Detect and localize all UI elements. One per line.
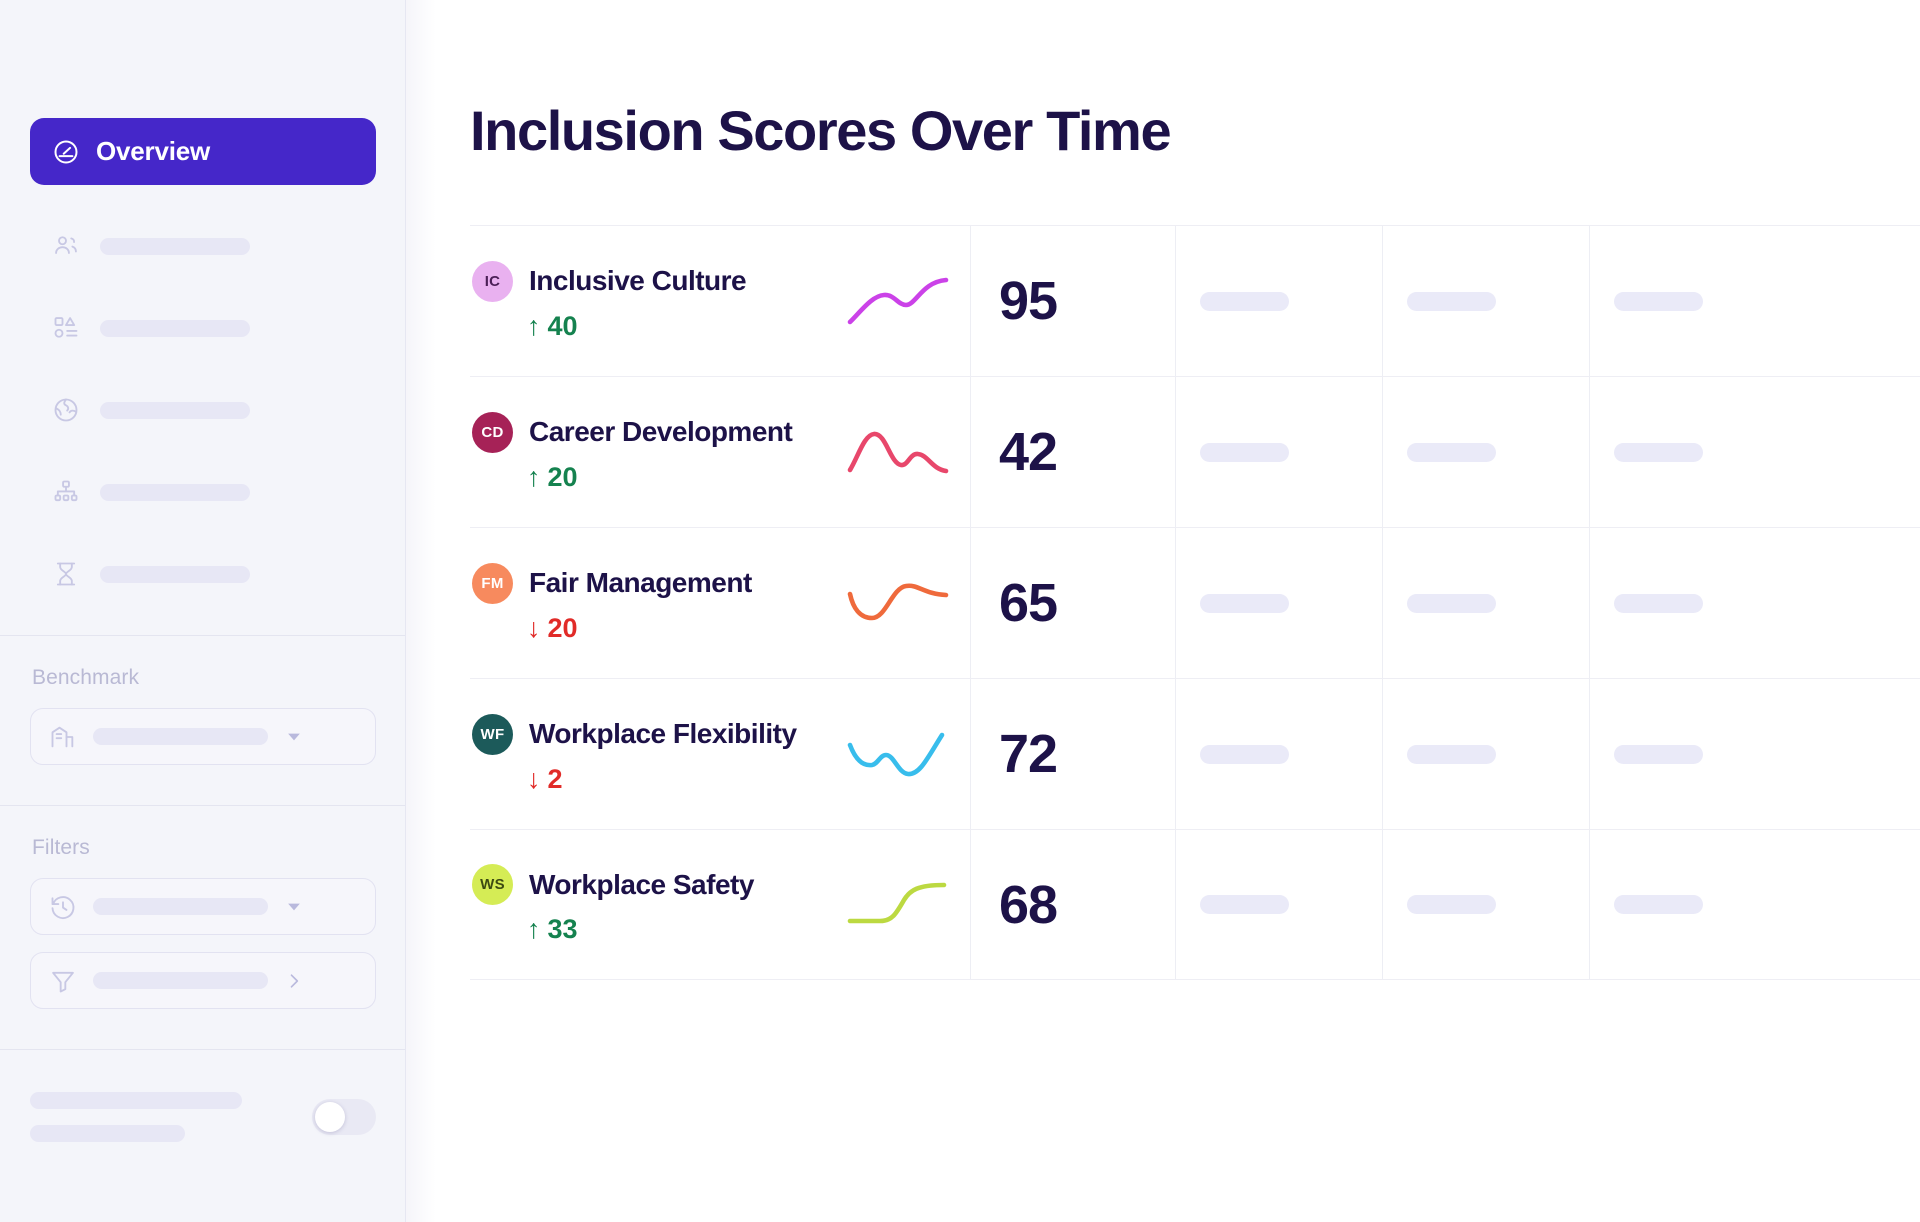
- score-cell: 95: [970, 226, 1175, 376]
- filters-section: Filters: [0, 806, 406, 1009]
- score-cell: 42: [970, 377, 1175, 527]
- filter-time-value: [93, 898, 268, 915]
- placeholder-cell: [1589, 528, 1920, 678]
- placeholder-bar: [1407, 594, 1496, 613]
- filter-funnel-select[interactable]: [30, 952, 376, 1009]
- placeholder-cell: [1589, 830, 1920, 979]
- avatar: WS: [472, 864, 513, 905]
- arrow-up-icon: ↑: [527, 464, 541, 491]
- sparkline-cell: [830, 528, 970, 678]
- placeholder-cell: [1589, 377, 1920, 527]
- placeholder-bar: [1407, 443, 1496, 462]
- metric-name-line: WS Workplace Safety: [472, 864, 830, 905]
- table-row[interactable]: FM Fair Management ↓ 20 65: [470, 527, 1920, 678]
- toggle-knob: [315, 1102, 345, 1132]
- delta-value: 40: [548, 311, 578, 342]
- table-row[interactable]: IC Inclusive Culture ↑ 40 95: [470, 225, 1920, 376]
- metric-name-cell: FM Fair Management ↓ 20: [470, 528, 830, 678]
- benchmark-title: Benchmark: [32, 666, 376, 690]
- sidebar: Overview: [0, 0, 406, 1222]
- avatar: CD: [472, 412, 513, 453]
- metric-label: Inclusive Culture: [529, 265, 746, 297]
- metric-name-cell: WF Workplace Flexibility ↓ 2: [470, 679, 830, 829]
- footer-line-2: [30, 1125, 185, 1142]
- hierarchy-icon: [52, 478, 80, 506]
- delta-indicator: ↑ 33: [527, 914, 830, 945]
- sidebar-item-label-overview: Overview: [96, 136, 210, 167]
- placeholder-cell: [1175, 830, 1382, 979]
- metric-label: Career Development: [529, 416, 792, 448]
- funnel-filter-icon: [49, 967, 77, 995]
- delta-indicator: ↑ 20: [527, 462, 830, 493]
- time-history-icon: [49, 893, 77, 921]
- sparkline-chart: [848, 572, 948, 634]
- sidebar-item-people[interactable]: [30, 225, 376, 267]
- benchmark-select-value: [93, 728, 268, 745]
- chevron-down-icon[interactable]: [284, 897, 304, 917]
- sparkline-chart: [848, 874, 948, 936]
- delta-value: 20: [548, 462, 578, 493]
- delta-indicator: ↓ 20: [527, 613, 830, 644]
- delta-value: 33: [548, 914, 578, 945]
- placeholder-bar: [1614, 594, 1703, 613]
- placeholder-bar: [1200, 745, 1289, 764]
- sparkline-cell: [830, 679, 970, 829]
- score-value: 68: [999, 874, 1057, 936]
- scores-table: IC Inclusive Culture ↑ 40 95 C: [470, 225, 1920, 980]
- metric-name-cell: CD Career Development ↑ 20: [470, 377, 830, 527]
- placeholder-bar: [1407, 895, 1496, 914]
- dashboard-gauge-icon: [52, 138, 80, 166]
- placeholder-bar: [1614, 443, 1703, 462]
- avatar: IC: [472, 261, 513, 302]
- arrow-down-icon: ↓: [527, 766, 541, 793]
- placeholder-cell: [1175, 679, 1382, 829]
- score-value: 42: [999, 421, 1057, 483]
- sparkline-cell: [830, 377, 970, 527]
- company-building-icon: [49, 723, 77, 751]
- score-value: 72: [999, 723, 1057, 785]
- globe-icon: [52, 396, 80, 424]
- benchmark-section: Benchmark: [0, 636, 406, 765]
- placeholder-cell: [1382, 226, 1589, 376]
- sparkline-chart: [848, 421, 948, 483]
- placeholder-cell: [1382, 679, 1589, 829]
- sidebar-item-placeholder: [100, 320, 250, 337]
- placeholder-cell: [1589, 679, 1920, 829]
- score-value: 95: [999, 270, 1057, 332]
- chevron-down-icon[interactable]: [284, 727, 304, 747]
- app-root: Overview: [0, 0, 1920, 1222]
- placeholder-cell: [1175, 377, 1382, 527]
- page-title: Inclusion Scores Over Time: [470, 98, 1920, 163]
- delta-value: 2: [548, 764, 563, 795]
- sidebar-item-hierarchy[interactable]: [30, 471, 376, 513]
- sparkline-chart: [848, 723, 948, 785]
- sparkline-cell: [830, 830, 970, 979]
- sidebar-item-shapes[interactable]: [30, 307, 376, 349]
- people-icon: [52, 232, 80, 260]
- sidebar-item-overview[interactable]: Overview: [30, 118, 376, 185]
- placeholder-cell: [1382, 528, 1589, 678]
- delta-indicator: ↑ 40: [527, 311, 830, 342]
- footer-line-1: [30, 1092, 242, 1109]
- hourglass-icon: [52, 560, 80, 588]
- placeholder-cell: [1175, 528, 1382, 678]
- metric-name-line: FM Fair Management: [472, 563, 830, 604]
- arrow-up-icon: ↑: [527, 916, 541, 943]
- score-cell: 72: [970, 679, 1175, 829]
- chevron-right-icon[interactable]: [284, 971, 304, 991]
- sidebar-footer-toggle-row: [30, 1092, 376, 1142]
- placeholder-bar: [1200, 292, 1289, 311]
- sidebar-footer: [0, 1050, 406, 1142]
- placeholder-cell: [1382, 830, 1589, 979]
- table-row[interactable]: WS Workplace Safety ↑ 33 68: [470, 829, 1920, 980]
- metric-name-cell: WS Workplace Safety ↑ 33: [470, 830, 830, 979]
- table-row[interactable]: CD Career Development ↑ 20 42: [470, 376, 1920, 527]
- placeholder-bar: [1200, 443, 1289, 462]
- sidebar-nav: Overview: [0, 0, 406, 595]
- placeholder-cell: [1175, 226, 1382, 376]
- metric-name-cell: IC Inclusive Culture ↑ 40: [470, 226, 830, 376]
- filter-time-select[interactable]: [30, 878, 376, 935]
- delta-indicator: ↓ 2: [527, 764, 830, 795]
- avatar: FM: [472, 563, 513, 604]
- placeholder-bar: [1614, 895, 1703, 914]
- footer-placeholder-lines: [30, 1092, 242, 1142]
- shapes-icon: [52, 314, 80, 342]
- sidebar-item-placeholder: [100, 238, 250, 255]
- arrow-up-icon: ↑: [527, 313, 541, 340]
- sidebar-item-hourglass[interactable]: [30, 553, 376, 595]
- placeholder-cell: [1589, 226, 1920, 376]
- placeholder-bar: [1200, 895, 1289, 914]
- metric-label: Fair Management: [529, 567, 752, 599]
- sidebar-item-placeholder: [100, 484, 250, 501]
- placeholder-bar: [1614, 292, 1703, 311]
- main-content: Inclusion Scores Over Time IC Inclusive …: [406, 0, 1920, 1222]
- benchmark-select[interactable]: [30, 708, 376, 765]
- placeholder-cell: [1382, 377, 1589, 527]
- metric-name-line: CD Career Development: [472, 412, 830, 453]
- filters-title: Filters: [32, 836, 376, 860]
- sidebar-item-globe[interactable]: [30, 389, 376, 431]
- metric-label: Workplace Safety: [529, 869, 754, 901]
- sidebar-item-placeholder: [100, 566, 250, 583]
- metric-label: Workplace Flexibility: [529, 718, 797, 750]
- placeholder-bar: [1614, 745, 1703, 764]
- score-cell: 68: [970, 830, 1175, 979]
- footer-toggle-switch[interactable]: [312, 1099, 376, 1135]
- delta-value: 20: [548, 613, 578, 644]
- placeholder-bar: [1407, 292, 1496, 311]
- table-row[interactable]: WF Workplace Flexibility ↓ 2 72: [470, 678, 1920, 829]
- metric-name-line: IC Inclusive Culture: [472, 261, 830, 302]
- filter-funnel-value: [93, 972, 268, 989]
- sparkline-chart: [848, 270, 948, 332]
- placeholder-bar: [1407, 745, 1496, 764]
- placeholder-bar: [1200, 594, 1289, 613]
- score-value: 65: [999, 572, 1057, 634]
- sparkline-cell: [830, 226, 970, 376]
- metric-name-line: WF Workplace Flexibility: [472, 714, 830, 755]
- sidebar-item-placeholder: [100, 402, 250, 419]
- score-cell: 65: [970, 528, 1175, 678]
- arrow-down-icon: ↓: [527, 615, 541, 642]
- avatar: WF: [472, 714, 513, 755]
